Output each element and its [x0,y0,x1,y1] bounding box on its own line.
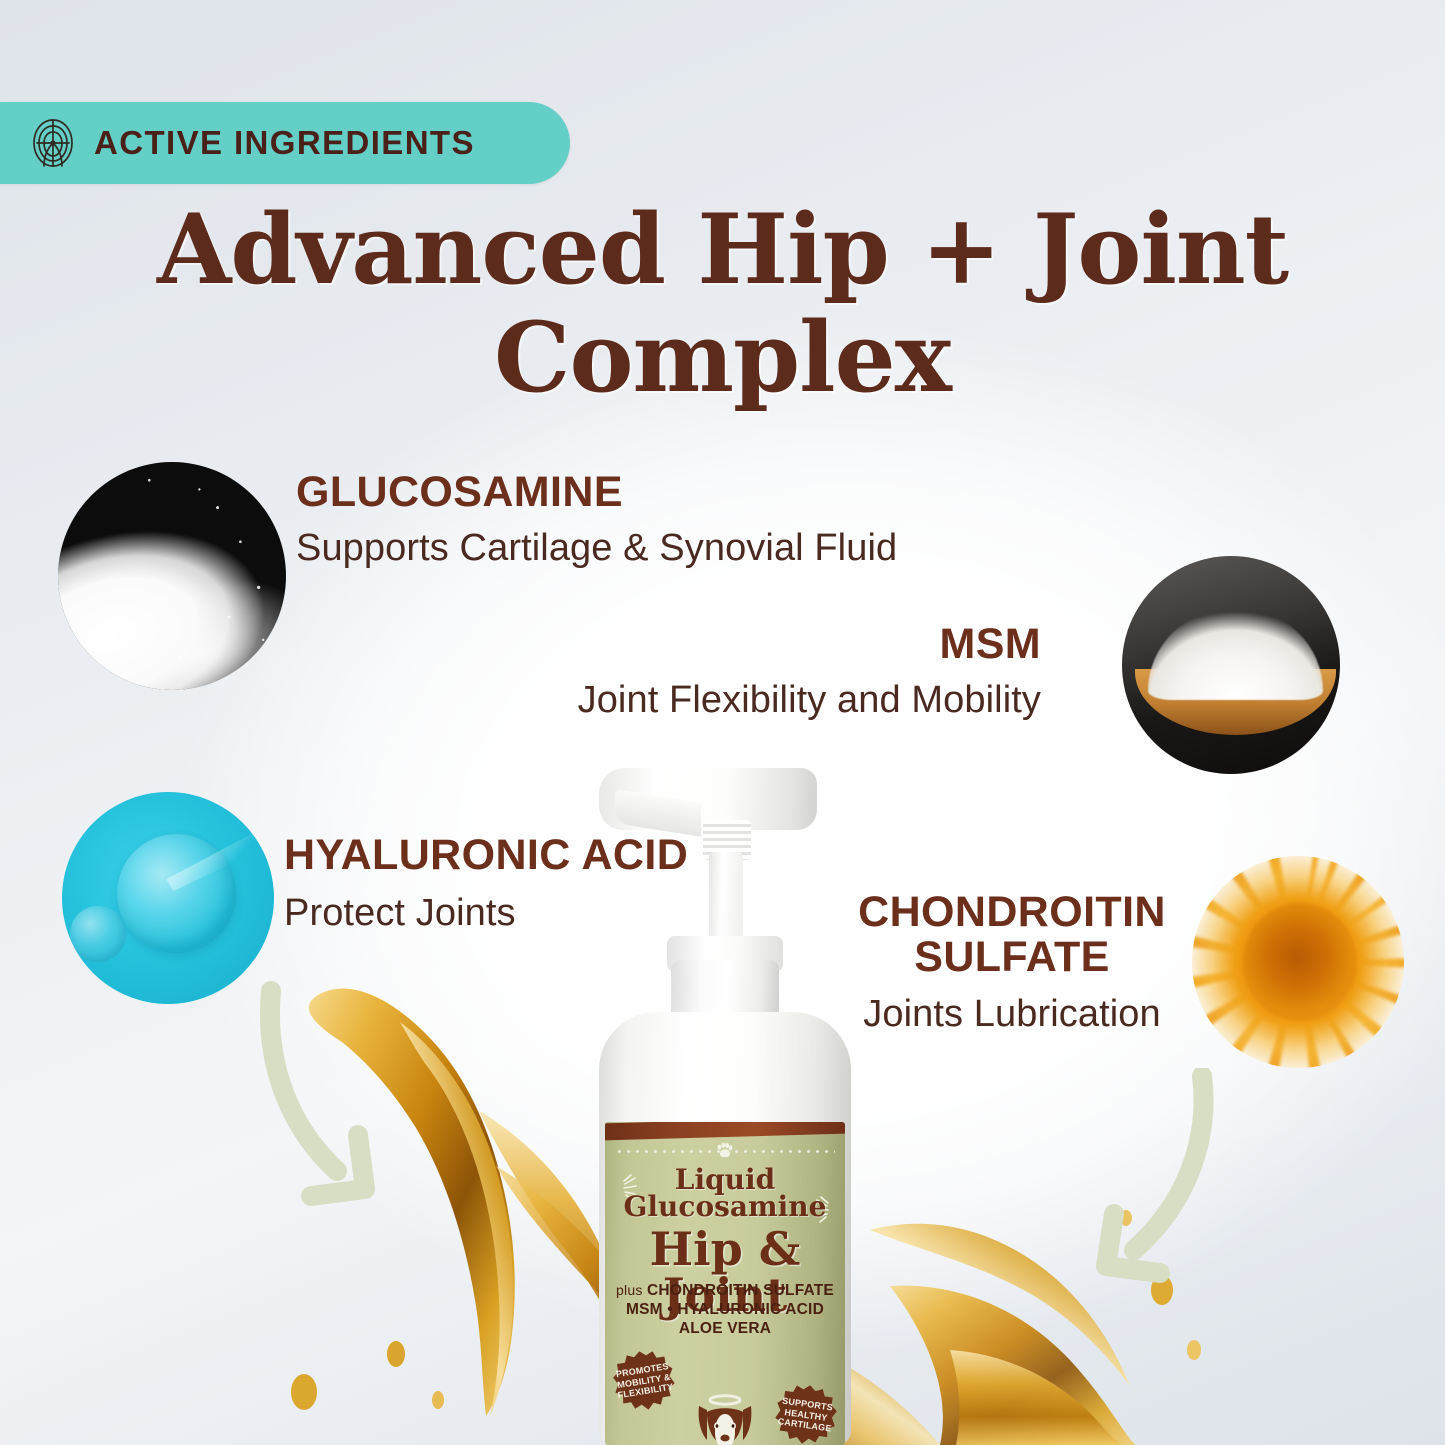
paw-print-icon [717,1142,734,1158]
glucosamine-image [58,462,286,690]
headline-line-2: Complex [0,304,1445,412]
dog-illustration [677,1390,773,1445]
label-title-liquid: Liquid [605,1166,845,1193]
ingredient-name: MSM [578,622,1041,667]
hyaluronic-acid-image [62,792,274,1004]
powder-mound-shape [1148,608,1322,700]
curved-arrow-down-left-icon [1058,1068,1223,1283]
ingredient-name: GLUCOSAMINE [296,470,897,515]
gel-droplet-shape [70,906,125,961]
ingredient-name-line-1: CHONDROITIN [842,890,1182,935]
ingredient-glucosamine: GLUCOSAMINE Supports Cartilage & Synovia… [296,470,897,570]
ingredient-description: Supports Cartilage & Synovial Fluid [296,527,897,571]
label-sub-line-1: plus CHONDROITIN SULFATE [605,1282,845,1301]
active-ingredients-badge: ACTIVE INGREDIENTS [0,102,570,184]
curved-arrow-down-right-icon [255,965,415,1210]
page-title: Advanced Hip + Joint Complex [0,196,1445,411]
label-sub-prefix: plus [616,1282,642,1298]
ingredient-name-line-2: SULFATE [842,935,1182,980]
ingredient-description: Joint Flexibility and Mobility [578,679,1041,723]
chondroitin-sulfate-image [1192,856,1404,1068]
label-sub-line-3: ALOE VERA [605,1320,845,1339]
pump-spout [615,789,701,837]
label-title-glucosamine: Glucosamine [605,1193,845,1220]
label-title-upper: Liquid Glucosamine [605,1166,845,1221]
label-badge-promotes-mobility: PROMOTES MOBILITY & FLEXIBILITY [609,1346,680,1417]
ingredient-chondroitin-sulfate: CHONDROITIN SULFATE Joints Lubrication [842,890,1182,1037]
label-subtitle: plus CHONDROITIN SULFATE MSM • HYALURONI… [605,1282,845,1339]
label-sub-chondroitin: CHONDROITIN SULFATE [647,1282,834,1299]
fingerprint-leaf-icon [30,117,76,169]
pump-stem [709,852,743,948]
powder-core-shape [1243,903,1357,1022]
msm-image [1122,556,1340,774]
ingredient-msm: MSM Joint Flexibility and Mobility [578,622,1041,722]
product-label: Liquid Glucosamine Hip & Joint plus CHON… [605,1122,845,1445]
label-badge-supports-cartilage: SUPPORTS HEALTHY CARTILAGE [771,1380,841,1445]
product-bottle: Liquid Glucosamine Hip & Joint plus CHON… [575,762,865,1445]
label-sub-line-2: MSM • HYALURONIC ACID [605,1301,845,1320]
active-ingredients-label: ACTIVE INGREDIENTS [94,124,475,162]
infographic-canvas: ACTIVE INGREDIENTS Advanced Hip + Joint … [0,0,1445,1445]
headline-line-1: Advanced Hip + Joint [0,196,1445,304]
ingredient-description: Joints Lubrication [842,993,1182,1037]
powder-specks [58,462,286,690]
label-cap-band [605,1122,845,1140]
